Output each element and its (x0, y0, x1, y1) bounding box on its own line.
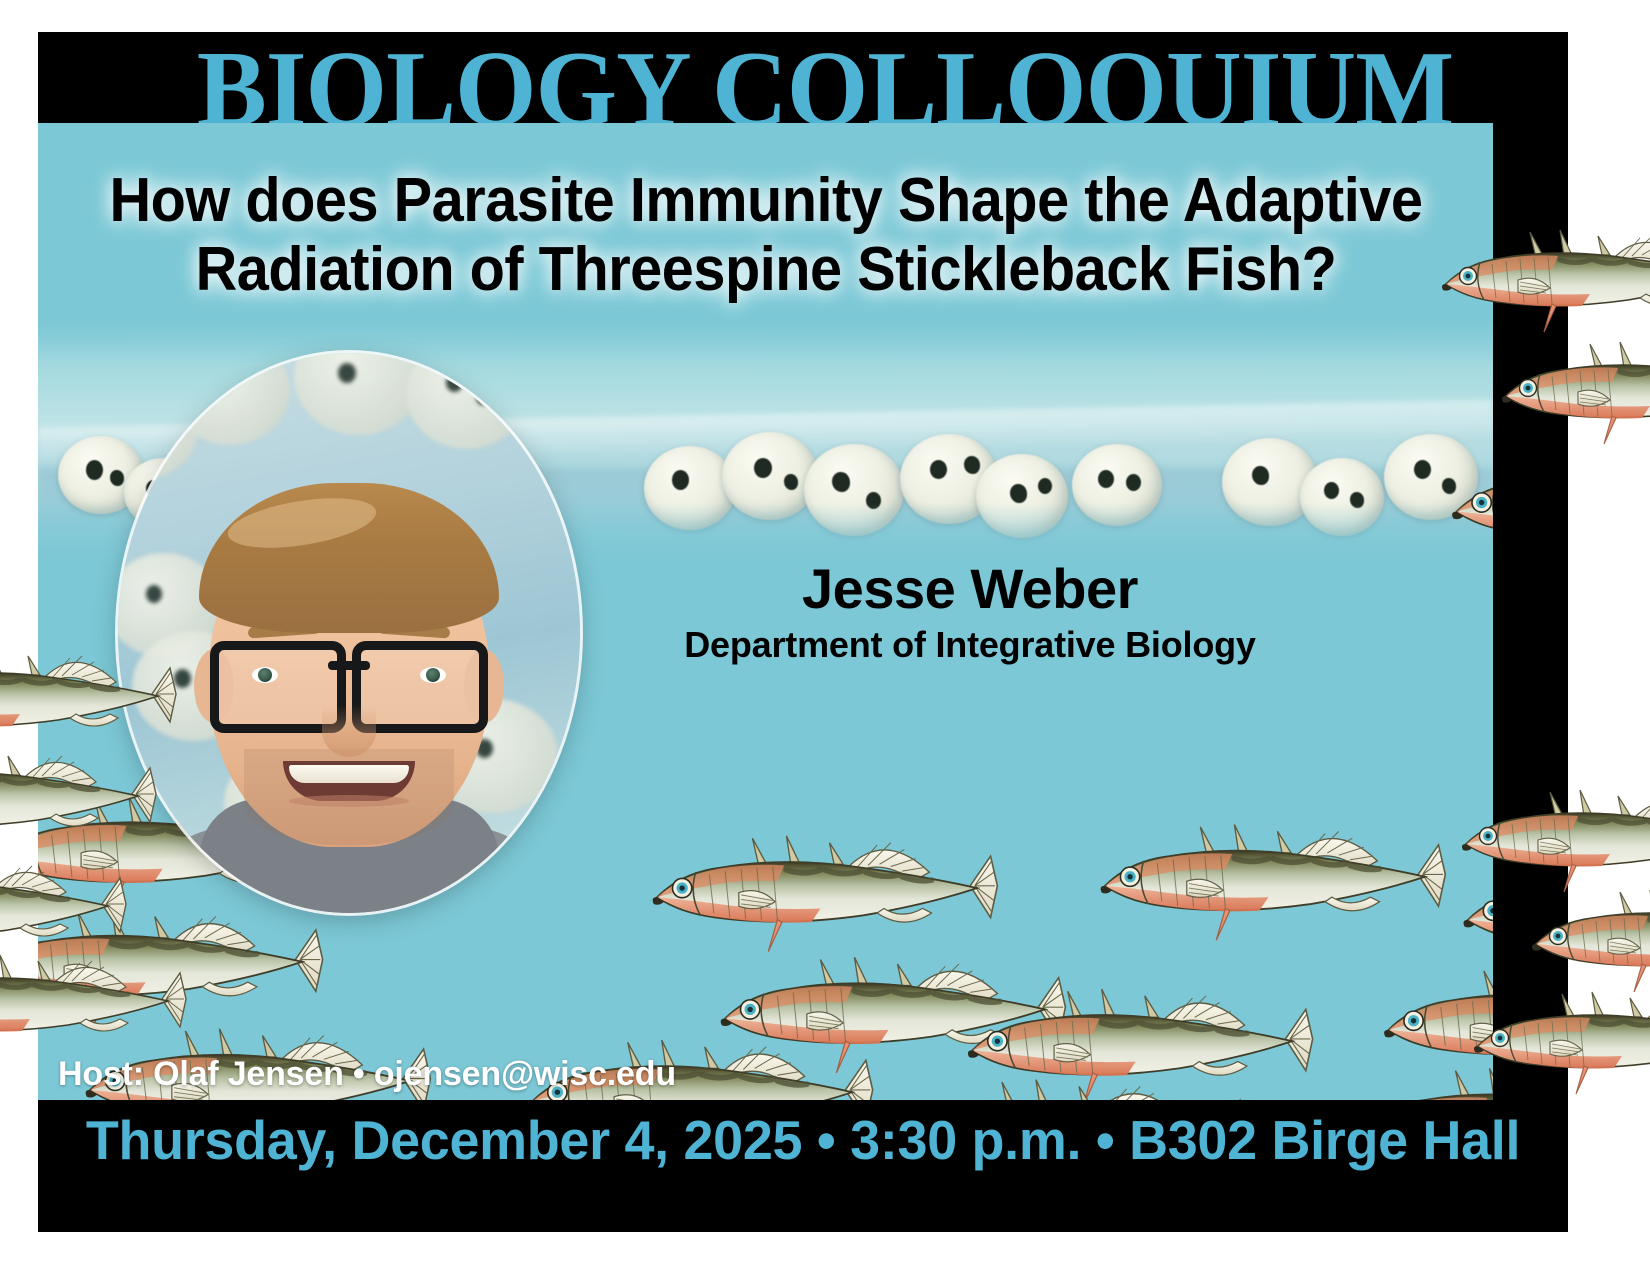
nose (322, 705, 376, 757)
fish-row-1 (653, 825, 1493, 975)
talk-title: How does Parasite Immunity Shape the Ada… (95, 166, 1438, 305)
hair (199, 483, 499, 633)
talk-title-line-1: How does Parasite Immunity Shape the Ada… (95, 166, 1438, 235)
portrait-person (184, 489, 514, 913)
talk-title-line-2: Radiation of Threespine Stickleback Fish… (95, 235, 1438, 304)
speaker-name: Jesse Weber (620, 560, 1320, 619)
event-details: Thursday, December 4, 2025 • 3:30 p.m. •… (53, 1108, 1552, 1172)
lower-lip (289, 795, 409, 807)
eye-left (252, 667, 278, 683)
host-line: Host: Olaf Jensen • ojensen@wisc.edu (58, 1055, 676, 1094)
speaker-department: Department of Integrative Biology (600, 625, 1340, 665)
poster: BIOLOGY COLLOQUIUM (0, 0, 1650, 1275)
glasses-bridge (328, 661, 370, 670)
eye-right (420, 667, 446, 683)
avatar (118, 353, 580, 913)
